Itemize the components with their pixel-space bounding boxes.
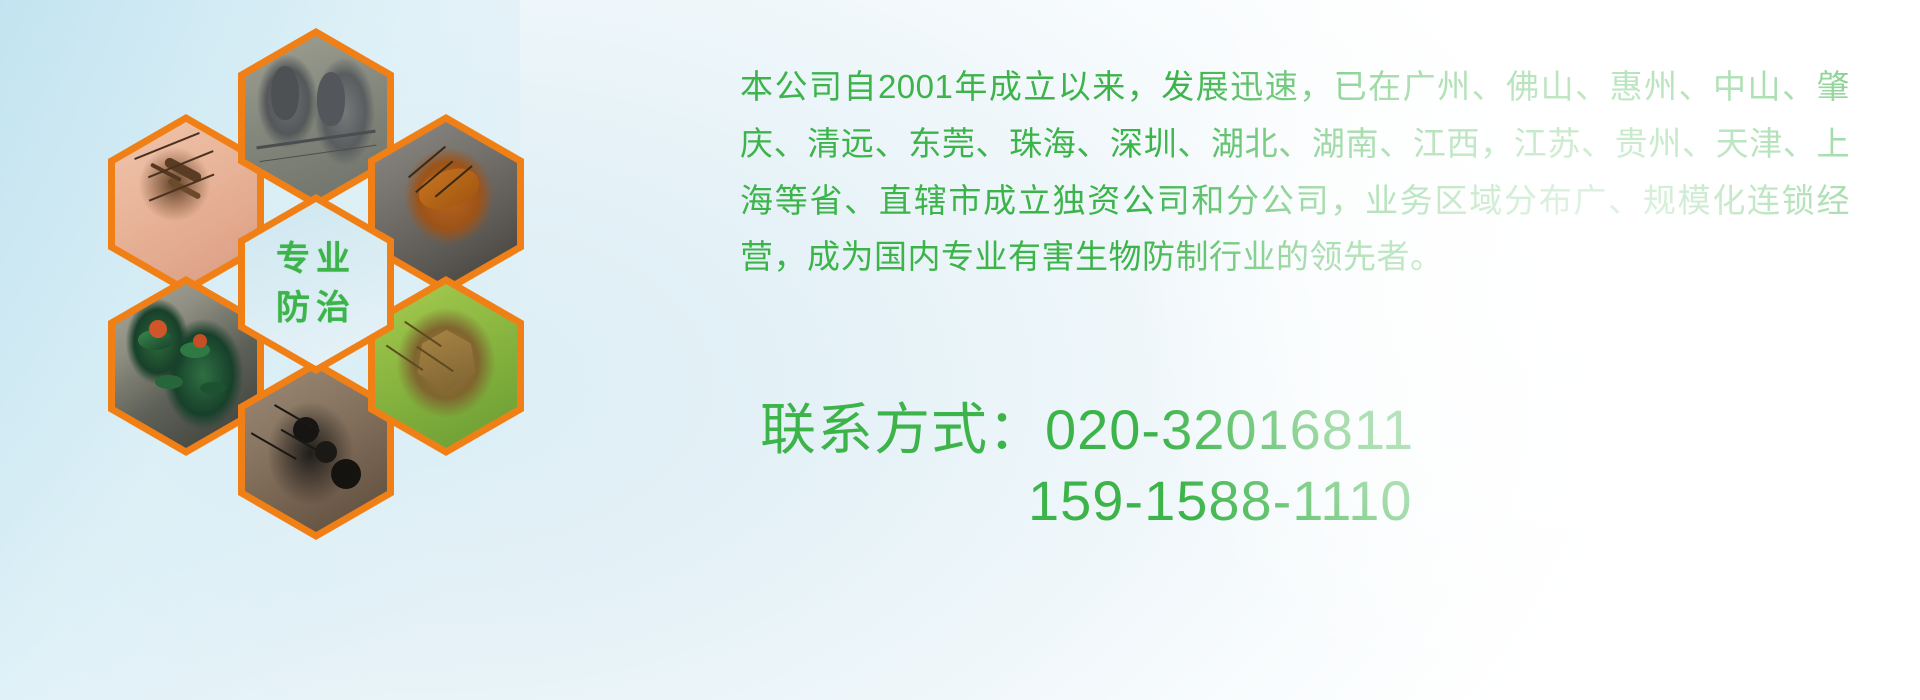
hex-inner-logo: 专业 防治 (245, 202, 387, 366)
honeycomb-gallery: 专业 防治 (88, 8, 588, 568)
contact-block: 联系方式：020-32016811 159-1588-1110 (760, 395, 1840, 536)
hex-inner-stinkbug (375, 284, 517, 448)
cockroach-photo (375, 122, 517, 286)
mosquito-photo (115, 122, 257, 286)
hex-inner-ant (245, 368, 387, 532)
contact-line-mobile[interactable]: 159-1588-1110 (760, 466, 1840, 537)
hex-inner-cockroach (375, 122, 517, 286)
flies-photo (115, 284, 257, 448)
contact-line-landline[interactable]: 联系方式：020-32016811 (760, 395, 1840, 466)
rats-photo (245, 36, 387, 200)
stinkbug-photo (375, 284, 517, 448)
logo-line-1: 专业 (276, 235, 356, 284)
company-intro-paragraph: 本公司自2001年成立以来，发展迅速，已在广州、佛山、惠州、中山、肇庆、清远、东… (740, 59, 1850, 286)
hex-inner-rats (245, 36, 387, 200)
hex-inner-mosquito (115, 122, 257, 286)
logo-line-2: 防治 (276, 284, 356, 333)
hex-inner-flies (115, 284, 257, 448)
intro-text-block: 本公司自2001年成立以来，发展迅速，已在广州、佛山、惠州、中山、肇庆、清远、东… (740, 26, 1850, 319)
ant-photo (245, 368, 387, 532)
pest-control-banner: 专业 防治 本公司自2001年成立以来，发展迅速，已在广州、佛山、惠州、中山、肇… (0, 0, 1920, 700)
